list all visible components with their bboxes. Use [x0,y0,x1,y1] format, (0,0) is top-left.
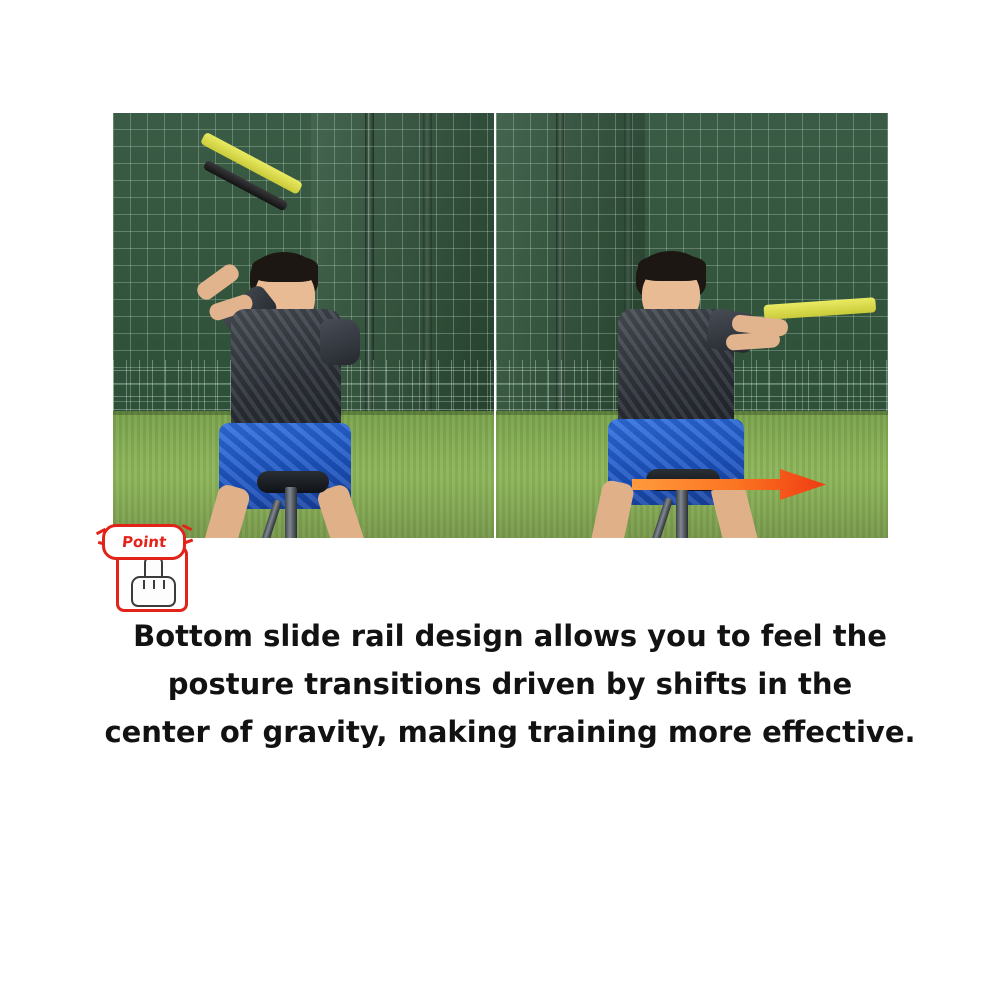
product-photo [113,113,888,538]
player-hair-fringe [638,255,706,281]
player-hair-fringe [252,256,318,282]
photo-panel-before [113,113,494,538]
point-badge: Point [96,520,208,610]
panel-divider [494,113,496,538]
hand-knuckle-line [143,580,145,589]
caption-block: Bottom slide rail design allows you to f… [80,612,940,756]
weight-shift-arrow-icon [630,465,830,505]
caption-line-1: Bottom slide rail design allows you to f… [80,612,940,660]
trainer-post [285,487,297,538]
hand-knuckle-line [153,580,155,589]
point-label: Point [121,533,167,551]
caption-line-3: center of gravity, making training more … [80,708,940,756]
hand-knuckle-line [163,580,165,589]
photo-panel-after [496,113,888,538]
player-sleeve-left [320,319,360,365]
caption-line-2: posture transitions driven by shifts in … [80,660,940,708]
point-label-bubble: Point [102,524,186,560]
